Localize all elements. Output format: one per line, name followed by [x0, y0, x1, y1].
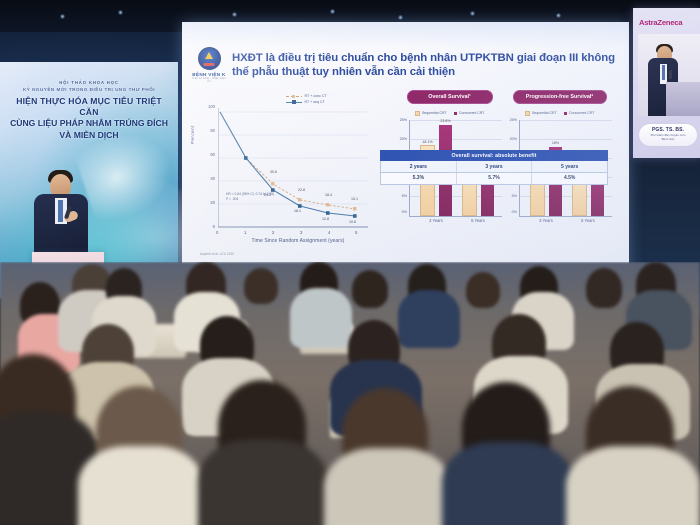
km-legend-item-seq: RT + seq CT	[286, 100, 327, 106]
seq-color-swatch-icon	[415, 111, 420, 116]
hospital-logo: BỆNH VIỆN K Trao sự sống - Nhận niềm tin	[192, 47, 226, 83]
pfs-ytick-20: 20%	[510, 137, 517, 141]
banner-line-4: CÙNG LIỆU PHÁP NHẮM TRÚNG ĐÍCH	[8, 118, 170, 129]
km-xtick-1: 1	[244, 230, 246, 235]
con-color-swatch-icon	[564, 112, 567, 115]
hospital-shield-icon	[198, 47, 221, 70]
km-xtick-4: 4	[328, 230, 330, 235]
km-label-seq-4y: 12.8	[322, 217, 329, 221]
os-legend-seq: Sequential CRT	[415, 111, 447, 116]
overall-survival-title: Overall Survival¹	[407, 90, 493, 104]
audience-foreground	[0, 262, 700, 525]
km-plot-area: 35.6 22.8 18.4 15.1 24.3 18.1 12.8 10.6	[218, 108, 368, 226]
hospital-name: BỆNH VIỆN K	[192, 72, 226, 77]
astrazeneca-logo: AstraZeneca	[639, 18, 682, 27]
km-ytick-0: 0	[213, 224, 215, 229]
benefit-col-5years: 5 years	[532, 161, 607, 172]
pfs-cat-3years: 3 Years	[526, 218, 566, 223]
banner-line-1: HỘI THẢO KHOA HỌC	[8, 80, 170, 85]
km-xtick-2: 2	[272, 230, 274, 235]
banner-line-5: VÀ MIỄN DỊCH	[8, 130, 170, 141]
slide-title: HXĐT là điều trị tiêu chuẩn cho bệnh nhâ…	[232, 51, 622, 80]
pfs-legend-seq-label: Sequential CRT	[532, 111, 557, 115]
os-bar-seq-3y-value: 18.1%	[422, 140, 432, 144]
km-label-seq-3y: 18.1	[294, 209, 301, 213]
os-legend-seq-label: Sequential CRT	[422, 111, 447, 115]
km-hazard-ratio-annotation: HR = 0.84 (95% CI, 0.74 to 0.95) P = .00…	[226, 192, 274, 202]
speaker-tie	[662, 65, 665, 80]
pfs-title: Progression-free Survival²	[513, 90, 607, 104]
speaker-podium	[666, 82, 700, 116]
microphone-icon	[669, 70, 672, 79]
km-label-conc-3y: 22.8	[298, 188, 305, 192]
conference-photo-scene: HỘI THẢO KHOA HỌC KỶ NGUYÊN MỚI TRONG ĐI…	[0, 0, 700, 525]
pfs-legend: Sequential CRT Concurrent CRT	[502, 111, 617, 116]
benefit-val-5years: 4.5%	[532, 173, 607, 184]
os-legend: Sequential CRT Concurrent CRT	[392, 111, 507, 116]
benefit-val-3years: 5.7%	[457, 173, 533, 184]
benefit-table-value-row: 5.3% 5.7% 4.5%	[380, 173, 608, 185]
km-ytick-100: 100	[208, 104, 215, 109]
km-label-conc-5y: 15.1	[351, 197, 358, 201]
km-label-conc-4y: 18.4	[325, 193, 332, 197]
pfs-legend-con-label: Concurrent CRT	[569, 111, 594, 115]
os-legend-con: Concurrent CRT	[454, 111, 485, 116]
km-ytick-60: 60	[210, 152, 215, 157]
os-ytick-20: 20%	[400, 137, 407, 141]
speaker-video-feed	[638, 34, 700, 116]
km-xtick-0: 0	[216, 230, 218, 235]
pfs-ytick-0: 0%	[512, 210, 517, 214]
benefit-col-2years: 2 years	[381, 161, 457, 172]
hospital-tagline: Trao sự sống - Nhận niềm tin	[192, 77, 226, 83]
km-label-conc-2y: 35.6	[270, 170, 277, 174]
os-bar-con-3y-value: 23.8%	[440, 119, 450, 123]
banner-line-3: HIỆN THỰC HÓA MỤC TIÊU TRIỆT CĂN	[8, 96, 170, 118]
screen-glare	[182, 22, 629, 48]
km-ytick-80: 80	[210, 128, 215, 133]
km-xtick-5: 5	[355, 230, 357, 235]
os-ytick-25: 25%	[400, 118, 407, 122]
os-cat-3years: 3 Years	[416, 218, 456, 223]
benefit-col-3years: 3 years	[457, 161, 533, 172]
km-legend: RT + conc CT RT + seq CT	[286, 94, 327, 105]
speaker-name-chip: PGS. TS. BS. Phó Giám đốc chuyên môn Bện…	[639, 124, 697, 146]
km-x-axis-label: Time Since Random Assignment (years)	[210, 238, 386, 244]
absolute-benefit-table: Overall survival: absolute benefit 2 yea…	[380, 150, 608, 185]
benefit-table-header: Overall survival: absolute benefit	[380, 150, 608, 161]
pfs-ytick-25: 25%	[510, 118, 517, 122]
solid-line-icon	[286, 102, 302, 103]
seq-color-swatch-icon	[525, 111, 530, 116]
left-banner-text-block: HỘI THẢO KHOA HỌC KỶ NGUYÊN MỚI TRONG ĐI…	[8, 80, 170, 141]
km-label-seq-5y: 10.6	[349, 220, 356, 224]
live-speaker-tie	[58, 200, 63, 222]
dashed-line-icon	[286, 96, 302, 97]
pfs-ytick-5: 5%	[512, 194, 517, 198]
pfs-legend-seq: Sequential CRT	[525, 111, 557, 116]
con-color-swatch-icon	[454, 112, 457, 115]
os-legend-con-label: Concurrent CRT	[459, 111, 484, 115]
slide-citation: Aupérin et al. JCO 2010	[200, 252, 234, 256]
main-projection-screen: BỆNH VIỆN K Trao sự sống - Nhận niềm tin…	[182, 22, 629, 294]
speaker-role: Phó Giám đốc chuyên môn Bệnh viện	[639, 134, 697, 142]
km-y-ticks: 100 80 60 40 20 0	[194, 104, 216, 230]
slide-header: BỆNH VIỆN K Trao sự sống - Nhận niềm tin…	[192, 46, 622, 84]
pfs-bar-con-3y-value: 18%	[552, 141, 559, 145]
right-projection-screen: AstraZeneca PGS. TS. BS. Phó Giám đốc ch…	[633, 8, 700, 158]
os-ytick-0: 0%	[402, 210, 407, 214]
os-cat-5years: 5 Years	[458, 218, 498, 223]
km-xtick-3: 3	[300, 230, 302, 235]
pfs-cat-5years: 5 Years	[568, 218, 608, 223]
km-ytick-40: 40	[210, 176, 215, 181]
benefit-val-2years: 5.3%	[381, 173, 457, 184]
os-ytick-5: 5%	[402, 194, 407, 198]
km-ytick-20: 20	[210, 200, 215, 205]
km-legend-label-seq: RT + seq CT	[305, 100, 325, 106]
pfs-legend-con: Concurrent CRT	[564, 111, 595, 116]
km-plot-svg	[218, 108, 368, 230]
banner-line-2: KỶ NGUYÊN MỚI TRONG ĐIỀU TRỊ UNG THƯ PHỔ…	[8, 87, 170, 92]
benefit-table-column-row: 2 years 3 years 5 years	[380, 161, 608, 173]
km-survival-chart: RT + conc CT RT + seq CT Percent 100 80 …	[194, 92, 384, 250]
